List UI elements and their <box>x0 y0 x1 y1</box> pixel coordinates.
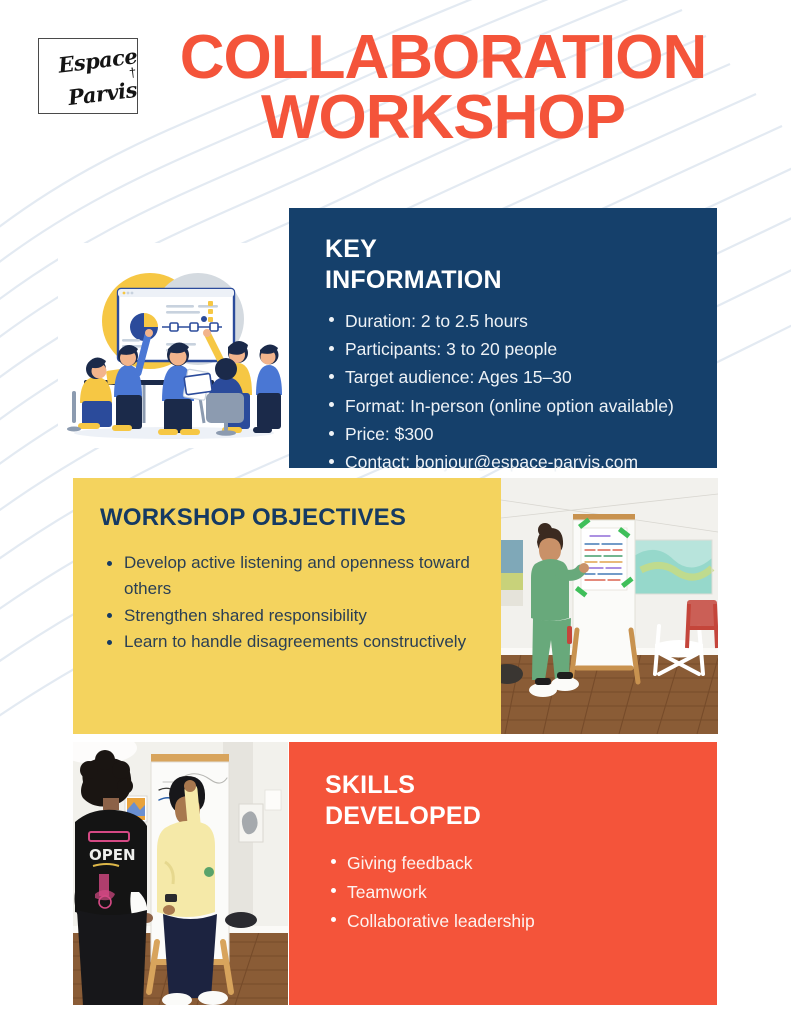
skills-developed-list: Giving feedback Teamwork Collaborative l… <box>325 849 695 936</box>
skills-heading-line-2: DEVELOPED <box>325 802 481 830</box>
logo-text-parvis: Parvis <box>67 79 138 108</box>
list-item: Giving feedback <box>325 849 695 878</box>
list-item: Learn to handle disagreements constructi… <box>100 629 481 655</box>
list-item: Collaborative leadership <box>325 907 695 936</box>
skills-heading-line-1: SKILLS <box>325 771 415 799</box>
list-item: Strengthen shared responsibility <box>100 603 481 629</box>
poster-page: Espace † Parvis COLLABORATION WORKSHOP <box>0 0 791 1024</box>
key-information-list: Duration: 2 to 2.5 hours Participants: 3… <box>325 307 695 477</box>
key-information-panel: KEY INFORMATION Duration: 2 to 2.5 hours… <box>289 208 717 468</box>
logo-text-espace: Espace <box>57 45 138 76</box>
list-item: Participants: 3 to 20 people <box>325 335 695 363</box>
title-line-1: COLLABORATION <box>143 28 743 88</box>
svg-text:OPEN: OPEN <box>89 846 136 864</box>
poster-header: Espace † Parvis COLLABORATION WORKSHOP <box>0 0 791 200</box>
title-line-2: WORKSHOP <box>143 88 743 148</box>
key-information-heading: KEY INFORMATION <box>325 234 695 297</box>
skills-developed-heading: SKILLS DEVELOPED <box>325 770 695 833</box>
key-information-heading-line-2: INFORMATION <box>325 266 502 294</box>
key-information-heading-line-1: KEY <box>325 235 377 263</box>
facilitator-at-flipchart-photo <box>501 478 718 734</box>
list-item: Contact: bonjour@espace-parvis.com <box>325 448 695 476</box>
list-item: Teamwork <box>325 878 695 907</box>
skills-developed-panel: SKILLS DEVELOPED Giving feedback Teamwor… <box>289 742 717 1005</box>
workshop-objectives-heading: WORKSHOP OBJECTIVES <box>100 504 481 532</box>
workshop-objectives-list: Develop active listening and openness to… <box>100 550 481 655</box>
page-title: COLLABORATION WORKSHOP <box>143 28 743 148</box>
list-item: Duration: 2 to 2.5 hours <box>325 307 695 335</box>
list-item: Target audience: Ages 15–30 <box>325 363 695 391</box>
participants-at-whiteboard-photo: OPEN <box>73 742 288 1005</box>
list-item: Develop active listening and openness to… <box>100 550 481 602</box>
workshop-objectives-panel: WORKSHOP OBJECTIVES Develop active liste… <box>73 478 501 734</box>
list-item: Price: $300 <box>325 420 695 448</box>
list-item: Format: In-person (online option availab… <box>325 392 695 420</box>
team-collaboration-illustration <box>58 243 290 448</box>
brand-logo: Espace † Parvis <box>40 36 150 118</box>
